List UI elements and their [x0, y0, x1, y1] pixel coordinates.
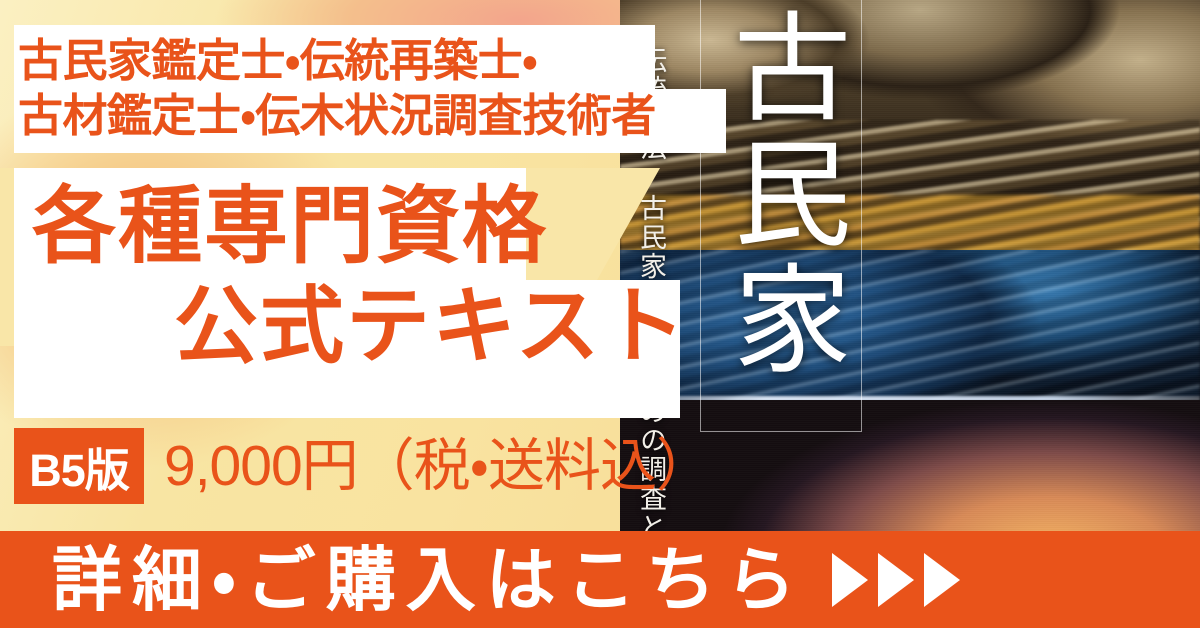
- cover-title-text: 古民家: [710, 6, 850, 384]
- main-headline: 各種専門資格 公式テキスト: [14, 172, 680, 416]
- qualification-line-1: 古民家鑑定士・伝統再築士・: [18, 34, 718, 89]
- qualification-line-2: 古材鑑定士・伝木状況調査技術者: [18, 89, 718, 144]
- price-row: B5版 9,000円（税・送料込）: [14, 426, 706, 506]
- cta-arrow-group: [832, 553, 960, 607]
- format-badge: B5版: [14, 428, 144, 504]
- cta-label: 詳細・ご購入はこちら: [52, 545, 806, 615]
- play-triangle-icon: [832, 553, 868, 607]
- main-headline-line-1: 各種専門資格: [32, 184, 548, 268]
- promo-banner: 古民家 伝統構法 古民家活用のための調査と再生の 古民家鑑定士・伝統再築士・ 古…: [0, 0, 1200, 628]
- play-triangle-icon: [878, 553, 914, 607]
- price-amount: 9,000円（税・送料込）: [164, 438, 712, 495]
- cta-bar[interactable]: 詳細・ご購入はこちら: [0, 531, 1200, 628]
- play-triangle-icon: [924, 553, 960, 607]
- qualifications-headline: 古民家鑑定士・伝統再築士・ 古材鑑定士・伝木状況調査技術者: [18, 30, 718, 148]
- main-headline-line-2: 公式テキスト: [174, 284, 687, 368]
